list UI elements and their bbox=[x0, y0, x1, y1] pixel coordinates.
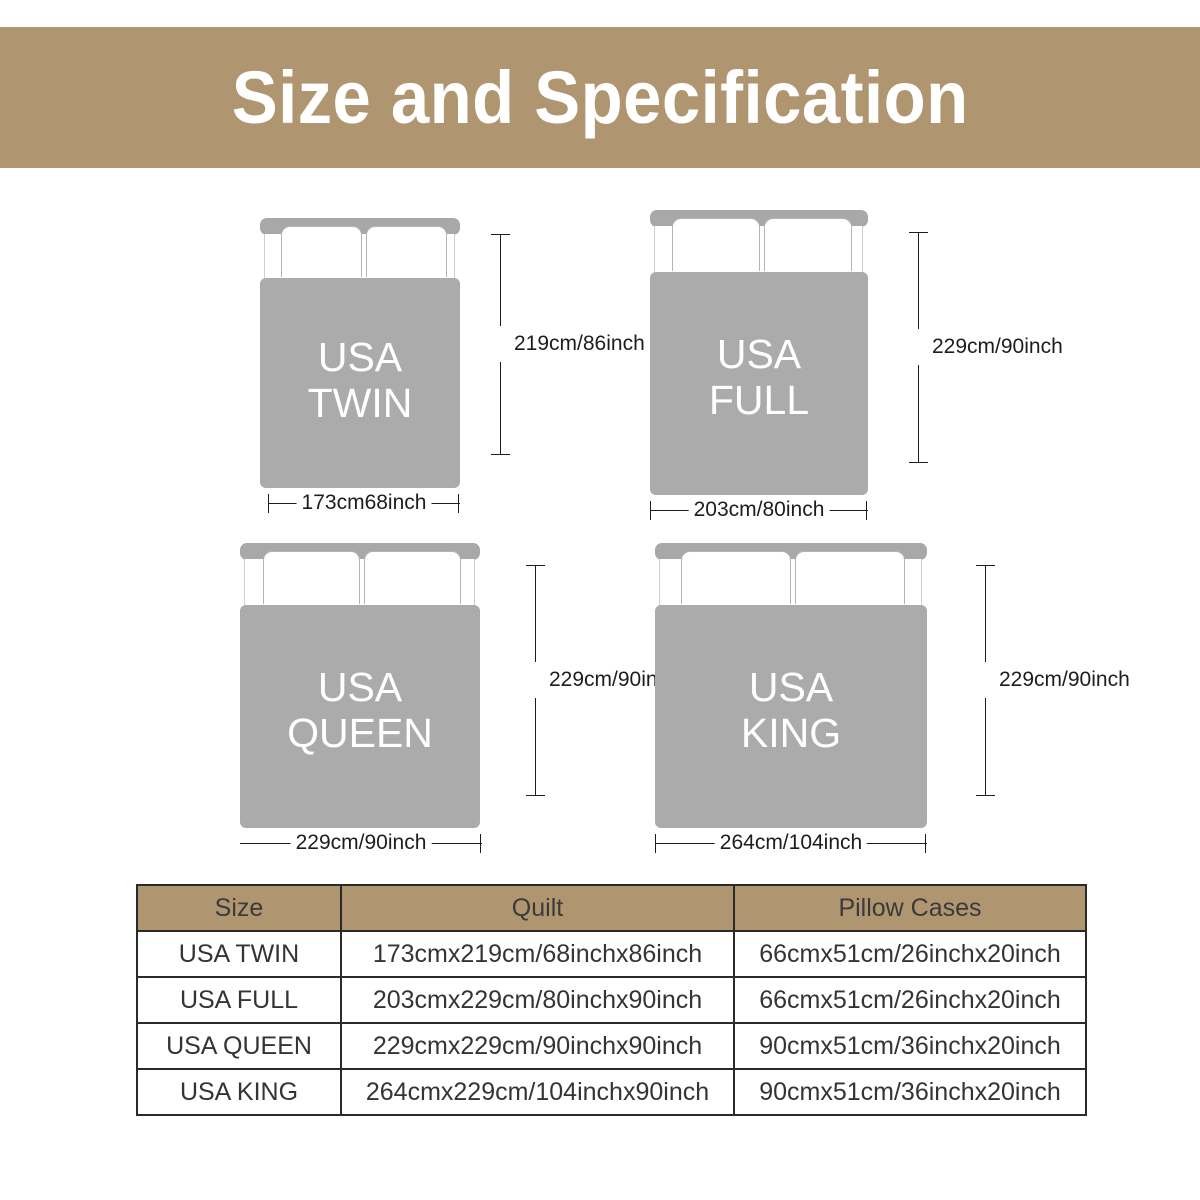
bed-diagram-usa-twin: USA TWIN 219cm/86inch 173cm68inch bbox=[260, 218, 580, 508]
dimension-line-upper bbox=[985, 565, 986, 662]
dimension-line-lower bbox=[918, 365, 919, 462]
dimension-tick-bottom bbox=[909, 462, 928, 463]
bed-figure-usa-queen: USA QUEEN bbox=[240, 543, 480, 828]
bed-label-line2: TWIN bbox=[308, 380, 413, 426]
table-header-row: Size Quilt Pillow Cases bbox=[137, 885, 1086, 931]
width-dimension-label: 203cm/80inch bbox=[689, 498, 830, 522]
cell-quilt: 203cmx229cm/80inchx90inch bbox=[341, 977, 734, 1023]
dimension-tick-bottom bbox=[526, 795, 545, 796]
cell-quilt: 173cmx219cm/68inchx86inch bbox=[341, 931, 734, 977]
bed-label-line1: USA bbox=[318, 664, 402, 710]
bed-label-line1: USA bbox=[318, 334, 402, 380]
pillow-left bbox=[263, 551, 360, 604]
height-dimension-label: 219cm/86inch bbox=[514, 332, 645, 356]
table-row: USA QUEEN 229cmx229cm/90inchx90inch 90cm… bbox=[137, 1023, 1086, 1069]
quilt: USA KING bbox=[655, 605, 927, 828]
cell-pillow: 90cmx51cm/36inchx20inch bbox=[734, 1023, 1086, 1069]
bed-label-line2: QUEEN bbox=[287, 710, 433, 756]
width-dimension-label: 173cm68inch bbox=[297, 491, 432, 515]
pillow-left bbox=[281, 226, 362, 277]
dimension-tick-bottom bbox=[491, 454, 510, 455]
dimension-line-upper bbox=[535, 565, 536, 662]
bed-label-line2: KING bbox=[741, 710, 841, 756]
bed-label-line1: USA bbox=[717, 331, 801, 377]
cell-size: USA QUEEN bbox=[137, 1023, 341, 1069]
quilt: USA TWIN bbox=[260, 278, 460, 488]
specification-table: Size Quilt Pillow Cases USA TWIN 173cmx2… bbox=[136, 884, 1087, 1116]
cell-pillow: 90cmx51cm/36inchx20inch bbox=[734, 1069, 1086, 1115]
header-banner: Size and Specification bbox=[0, 27, 1200, 168]
height-dimension-label: 229cm/90inch bbox=[999, 668, 1130, 692]
pillow-left bbox=[672, 218, 760, 271]
bed-label-line1: USA bbox=[749, 664, 833, 710]
height-dimension-label: 229cm/90inch bbox=[932, 335, 1063, 359]
cell-size: USA TWIN bbox=[137, 931, 341, 977]
table-row: USA KING 264cmx229cm/104inchx90inch 90cm… bbox=[137, 1069, 1086, 1115]
page-title: Size and Specification bbox=[232, 61, 969, 135]
bed-figure-usa-twin: USA TWIN bbox=[260, 218, 460, 488]
bed-figure-usa-full: USA FULL bbox=[650, 210, 868, 495]
cell-size: USA KING bbox=[137, 1069, 341, 1115]
bed-size-label-usa-queen: USA QUEEN bbox=[240, 665, 480, 757]
bed-size-label-usa-twin: USA TWIN bbox=[260, 335, 460, 427]
bed-diagram-usa-full: USA FULL 229cm/90inch 203cm/80inch bbox=[650, 210, 1010, 510]
cell-quilt: 264cmx229cm/104inchx90inch bbox=[341, 1069, 734, 1115]
dimension-tick-right bbox=[925, 834, 926, 853]
bed-size-label-usa-king: USA KING bbox=[655, 665, 927, 757]
pillow-right bbox=[364, 551, 461, 604]
table-header-pillow: Pillow Cases bbox=[734, 885, 1086, 931]
bed-diagram-usa-king: USA KING 229cm/90inch 264cm/104inch bbox=[655, 543, 1095, 843]
dimension-tick-right bbox=[866, 501, 867, 520]
dimension-tick-bottom bbox=[976, 795, 995, 796]
bed-diagram-usa-queen: USA QUEEN 229cm/90inch 229cm/90inch bbox=[240, 543, 620, 843]
bed-figure-usa-king: USA KING bbox=[655, 543, 927, 828]
pillow-right bbox=[764, 218, 852, 271]
pillow-right bbox=[366, 226, 447, 277]
dimension-tick-right bbox=[480, 834, 481, 853]
pillow-right bbox=[795, 551, 905, 604]
quilt: USA QUEEN bbox=[240, 605, 480, 828]
dimension-line-lower bbox=[985, 698, 986, 795]
table-header-quilt: Quilt bbox=[341, 885, 734, 931]
cell-pillow: 66cmx51cm/26inchx20inch bbox=[734, 977, 1086, 1023]
cell-size: USA FULL bbox=[137, 977, 341, 1023]
bed-diagrams-area: USA TWIN 219cm/86inch 173cm68inch bbox=[0, 168, 1200, 868]
pillow-left bbox=[681, 551, 791, 604]
cell-quilt: 229cmx229cm/90inchx90inch bbox=[341, 1023, 734, 1069]
dimension-line-lower bbox=[535, 698, 536, 795]
width-dimension-label: 264cm/104inch bbox=[715, 831, 867, 855]
dimension-line-upper bbox=[500, 234, 501, 326]
table-row: USA FULL 203cmx229cm/80inchx90inch 66cmx… bbox=[137, 977, 1086, 1023]
dimension-tick-right bbox=[458, 494, 459, 513]
width-dimension-label: 229cm/90inch bbox=[291, 831, 432, 855]
dimension-line-upper bbox=[918, 232, 919, 329]
quilt: USA FULL bbox=[650, 272, 868, 495]
bed-size-label-usa-full: USA FULL bbox=[650, 332, 868, 424]
dimension-line-lower bbox=[500, 362, 501, 454]
cell-pillow: 66cmx51cm/26inchx20inch bbox=[734, 931, 1086, 977]
table-row: USA TWIN 173cmx219cm/68inchx86inch 66cmx… bbox=[137, 931, 1086, 977]
bed-label-line2: FULL bbox=[709, 377, 809, 423]
table-header-size: Size bbox=[137, 885, 341, 931]
